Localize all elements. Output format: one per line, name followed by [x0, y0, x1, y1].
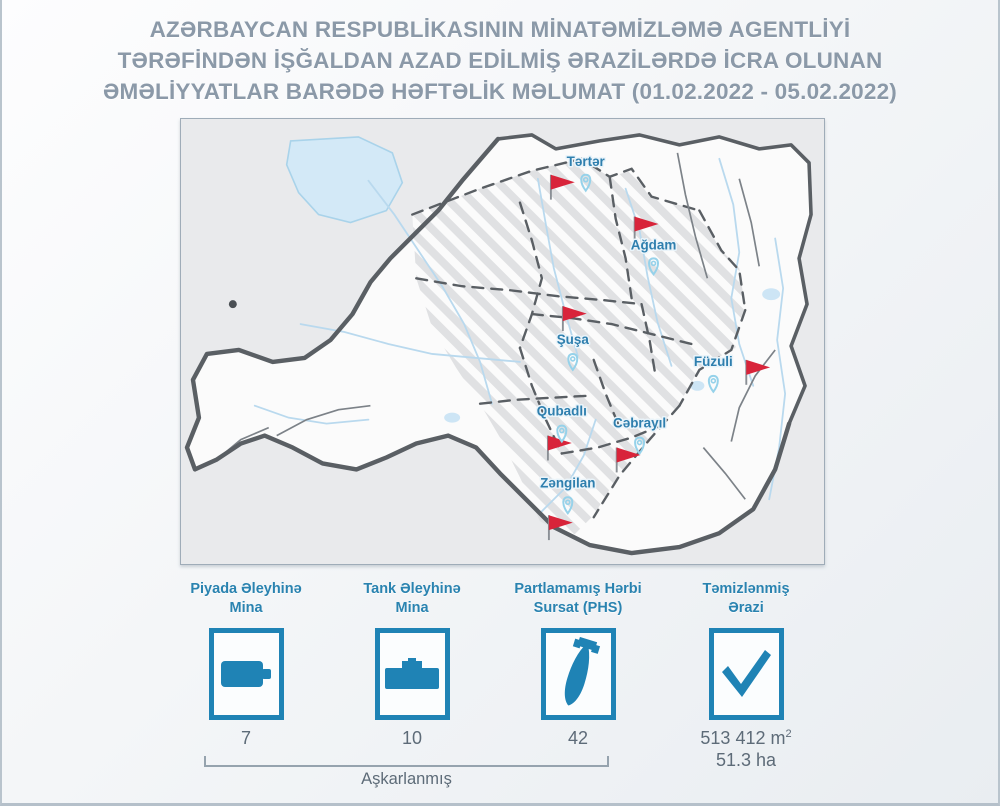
checkmark-icon — [718, 646, 774, 702]
legend-value-antipersonnel-mine: 7 — [167, 728, 325, 750]
title-line-1: AZƏRBAYCAN RESPUBLİKASININ MİNATƏMİZLƏMƏ… — [32, 14, 968, 45]
city-label-ağdam: Ağdam — [631, 237, 677, 252]
small-lake-east — [762, 288, 780, 300]
legend-iconbox-cleared-area — [709, 628, 784, 720]
legend-iconbox-antipersonnel-mine — [209, 628, 284, 720]
cleared-area-m2-text: 513 412 m2 — [700, 728, 791, 748]
city-label-tərtər: Tərtər — [567, 154, 606, 169]
legend-item-antitank-mine[interactable]: Tank ƏleyhinəMina 10 — [333, 580, 491, 750]
legend: Piyada ƏleyhinəMina 7 Tank ƏleyhinəMina … — [167, 580, 839, 740]
city-label-cəbrayıl: Cəbrayıl — [613, 416, 666, 431]
legend-value-cleared-area-m2: 513 412 m2 — [667, 728, 825, 750]
bracket-line — [204, 756, 609, 767]
bracket-label: Aşkarlanmış — [204, 770, 609, 789]
legend-caption-antitank-mine: Tank ƏleyhinəMina — [333, 580, 491, 620]
azerbaijan-map: TərtərAğdamŞuşaFüzuliQubadlıCəbrayılZəng… — [181, 119, 824, 564]
title-line-3: ƏMƏLİYYATLAR BARƏDƏ HƏFTƏLİK MƏLUMAT (01… — [32, 76, 968, 107]
city-label-zəngilan: Zəngilan — [540, 475, 595, 490]
legend-item-cleared-area[interactable]: TəmizlənmişƏrazi 513 412 m2 51.3 ha — [667, 580, 825, 772]
legend-value-antitank-mine: 10 — [333, 728, 491, 750]
legend-value-cleared-area-ha: 51.3 ha — [667, 750, 825, 772]
title-line-2: TƏRƏFİNDƏN İŞĞALDAN AZAD EDİLMİŞ ƏRAZİLƏ… — [32, 45, 968, 76]
legend-caption-antipersonnel-mine: Piyada ƏleyhinəMina — [167, 580, 325, 620]
legend-value-uxo: 42 — [499, 728, 657, 750]
legend-iconbox-uxo — [541, 628, 616, 720]
page-title: AZƏRBAYCAN RESPUBLİKASININ MİNATƏMİZLƏMƏ… — [2, 0, 998, 115]
city-label-qubadlı: Qubadlı — [537, 404, 587, 419]
small-lake-south — [444, 413, 460, 423]
legend-item-antipersonnel-mine[interactable]: Piyada ƏleyhinəMina 7 — [167, 580, 325, 750]
legend-caption-cleared-area: TəmizlənmişƏrazi — [667, 580, 825, 620]
antitank-mine-icon — [384, 657, 440, 691]
antipersonnel-mine-icon — [220, 657, 272, 691]
map-dot-landmark — [229, 300, 237, 308]
map-container[interactable]: TərtərAğdamŞuşaFüzuliQubadlıCəbrayılZəng… — [180, 118, 825, 565]
legend-item-uxo[interactable]: Partlamamış HərbiSursat (PHS) 42 — [499, 580, 657, 750]
detected-bracket-group: Aşkarlanmış — [204, 756, 609, 789]
city-label-füzuli: Füzuli — [694, 354, 733, 369]
legend-iconbox-antitank-mine — [375, 628, 450, 720]
bomb-icon — [553, 637, 603, 711]
city-label-şuşa: Şuşa — [557, 332, 590, 347]
legend-caption-uxo: Partlamamış HərbiSursat (PHS) — [499, 580, 657, 620]
